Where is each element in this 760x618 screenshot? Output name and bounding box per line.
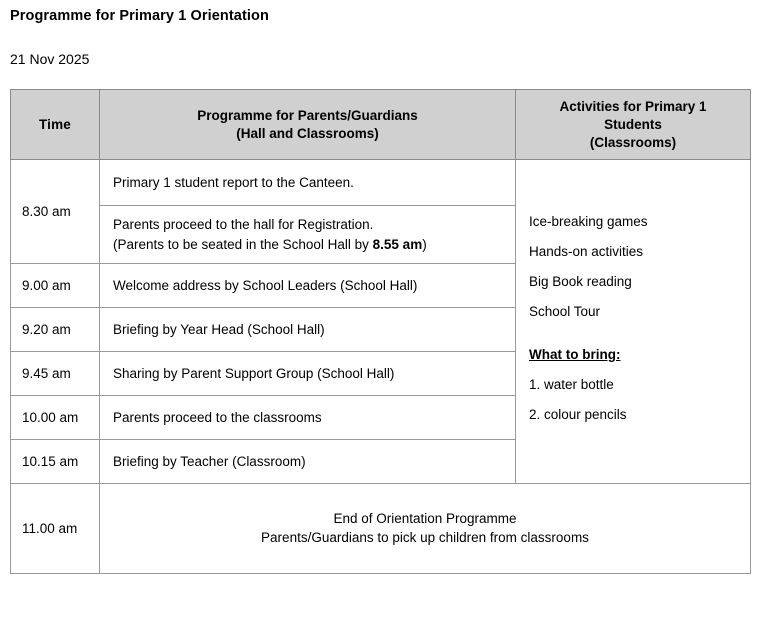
- programme-text-line2-prefix: (Parents to be seated in the School Hall…: [113, 237, 373, 252]
- programme-cell: Welcome address by School Leaders (Schoo…: [100, 263, 516, 307]
- time-cell: 9.00 am: [11, 263, 100, 307]
- programme-cell: Briefing by Teacher (Classroom): [100, 439, 516, 483]
- programme-page: Programme for Primary 1 Orientation 21 N…: [0, 0, 760, 618]
- final-message-cell: End of Orientation Programme Parents/Gua…: [100, 483, 751, 573]
- activity-item: Big Book reading: [529, 272, 740, 291]
- activities-cell: Ice-breaking games Hands-on activities B…: [516, 160, 751, 483]
- programme-cell: Briefing by Year Head (School Hall): [100, 307, 516, 351]
- page-title: Programme for Primary 1 Orientation: [10, 8, 269, 24]
- column-header-activities: Activities for Primary 1 Students (Class…: [516, 90, 751, 160]
- programme-text-line1: Parents proceed to the hall for Registra…: [113, 217, 373, 232]
- programme-text-line2-bold: 8.55 am: [373, 237, 423, 252]
- column-header-activities-line1: Activities for Primary 1: [559, 99, 706, 114]
- table-header-row: Time Programme for Parents/Guardians (Ha…: [11, 90, 751, 160]
- time-cell: 10.00 am: [11, 395, 100, 439]
- time-cell: 9.45 am: [11, 351, 100, 395]
- programme-cell: Primary 1 student report to the Canteen.: [100, 160, 516, 206]
- programme-cell: Sharing by Parent Support Group (School …: [100, 351, 516, 395]
- what-to-bring-item: 1. water bottle: [529, 375, 740, 394]
- what-to-bring-heading: What to bring:: [529, 345, 740, 364]
- time-cell: 8.30 am: [11, 160, 100, 263]
- activity-item: School Tour: [529, 302, 740, 321]
- spacer: [529, 332, 740, 345]
- table-body: 8.30 am Primary 1 student report to the …: [11, 160, 751, 573]
- column-header-programme-line1: Programme for Parents/Guardians: [197, 108, 418, 123]
- programme-cell: Parents proceed to the classrooms: [100, 395, 516, 439]
- programme-table-wrapper: Time Programme for Parents/Guardians (Ha…: [10, 89, 750, 574]
- column-header-activities-line2: Students: [604, 117, 662, 132]
- column-header-programme: Programme for Parents/Guardians (Hall an…: [100, 90, 516, 160]
- table-row: 8.30 am Primary 1 student report to the …: [11, 160, 751, 206]
- column-header-programme-line2: (Hall and Classrooms): [236, 126, 379, 141]
- activity-item: Hands-on activities: [529, 242, 740, 261]
- time-cell: 10.15 am: [11, 439, 100, 483]
- programme-cell: Parents proceed to the hall for Registra…: [100, 206, 516, 263]
- activity-item: Ice-breaking games: [529, 212, 740, 231]
- final-message-line2: Parents/Guardians to pick up children fr…: [261, 530, 589, 545]
- table-row-final: 11.00 am End of Orientation Programme Pa…: [11, 483, 751, 573]
- time-cell: 11.00 am: [11, 483, 100, 573]
- column-header-activities-line3: (Classrooms): [590, 135, 676, 150]
- time-cell: 9.20 am: [11, 307, 100, 351]
- what-to-bring-item: 2. colour pencils: [529, 405, 740, 424]
- programme-text-line2-suffix: ): [422, 237, 427, 252]
- table-header: Time Programme for Parents/Guardians (Ha…: [11, 90, 751, 160]
- column-header-time: Time: [11, 90, 100, 160]
- programme-table: Time Programme for Parents/Guardians (Ha…: [10, 89, 751, 574]
- final-message-line1: End of Orientation Programme: [333, 511, 516, 526]
- page-date: 21 Nov 2025: [10, 51, 89, 67]
